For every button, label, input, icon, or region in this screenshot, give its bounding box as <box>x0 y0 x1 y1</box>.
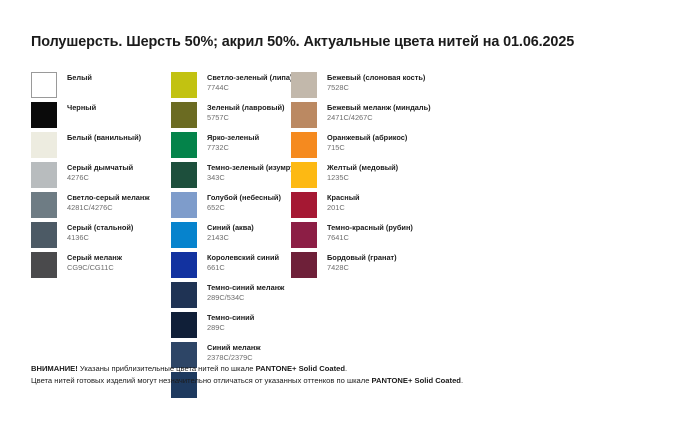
color-chart-page: Полушерсть. Шерсть 50%; акрил 50%. Актуа… <box>0 0 700 426</box>
swatch-pantone-code: 4281C/4276C <box>67 204 150 213</box>
color-swatch[interactable] <box>31 252 57 278</box>
swatch-labels: Ярко-зеленый7732C <box>207 132 259 152</box>
swatch-labels: Серый меланжCG9C/CG11C <box>67 252 122 272</box>
swatch-color-name: Бежевый (слоновая кость) <box>327 74 425 83</box>
swatch-labels: Светло-зеленый (липа)7744C <box>207 72 292 92</box>
color-swatch[interactable] <box>31 102 57 128</box>
color-swatch[interactable] <box>171 192 197 218</box>
swatch-labels: Темно-красный (рубин)7641C <box>327 222 413 242</box>
color-swatch-row[interactable]: Голубой (небесный)652C <box>171 192 291 222</box>
color-swatch[interactable] <box>291 102 317 128</box>
swatch-pantone-code: 1235C <box>327 174 398 183</box>
swatch-color-name: Светло-зеленый (липа) <box>207 74 292 83</box>
swatch-pantone-code: CG9C/CG11C <box>67 264 122 273</box>
swatch-column-greens-blues: Светло-зеленый (липа)7744CЗеленый (лавро… <box>171 72 291 402</box>
color-swatch-row[interactable]: Темно-синий289C <box>171 312 291 342</box>
swatch-color-name: Бежевый меланж (миндаль) <box>327 104 431 113</box>
color-swatch[interactable] <box>291 72 317 98</box>
swatch-labels: Синий меланж2378C/2379C <box>207 342 261 362</box>
color-swatch-row[interactable]: Оранжевый (абрикос)715C <box>291 132 471 162</box>
disclaimer-line-1: ВНИМАНИЕ! Указаны приблизительные цвета … <box>31 363 463 375</box>
swatch-color-name: Красный <box>327 194 360 203</box>
swatch-pantone-code: 343C <box>207 174 301 183</box>
swatch-pantone-code: 2471C/4267C <box>327 114 431 123</box>
swatch-pantone-code: 289C/534C <box>207 294 284 303</box>
disclaimer-footer: ВНИМАНИЕ! Указаны приблизительные цвета … <box>31 363 463 387</box>
color-swatch[interactable] <box>171 72 197 98</box>
attention-label: ВНИМАНИЕ! <box>31 364 78 373</box>
color-swatch-row[interactable]: Темно-синий меланж289C/534C <box>171 282 291 312</box>
swatch-color-name: Серый меланж <box>67 254 122 263</box>
color-swatch[interactable] <box>291 132 317 158</box>
swatch-labels: Черный <box>67 102 96 113</box>
color-swatch-row[interactable]: Королевский синий661C <box>171 252 291 282</box>
swatch-labels: Бежевый меланж (миндаль)2471C/4267C <box>327 102 431 122</box>
swatch-labels: Королевский синий661C <box>207 252 279 272</box>
color-swatch[interactable] <box>31 162 57 188</box>
color-swatch[interactable] <box>291 162 317 188</box>
swatch-pantone-code: 7732C <box>207 144 259 153</box>
swatch-color-name: Темно-синий меланж <box>207 284 284 293</box>
color-swatch-row[interactable]: Светло-зеленый (липа)7744C <box>171 72 291 102</box>
color-swatch[interactable] <box>171 312 197 338</box>
swatch-pantone-code: 2143C <box>207 234 254 243</box>
color-swatch[interactable] <box>31 222 57 248</box>
swatch-color-name: Белый (ванильный) <box>67 134 141 143</box>
swatch-pantone-code: 5757C <box>207 114 285 123</box>
swatch-color-name: Оранжевый (абрикос) <box>327 134 407 143</box>
swatch-labels: Голубой (небесный)652C <box>207 192 281 212</box>
swatch-labels: Синий (аква)2143C <box>207 222 254 242</box>
color-swatch[interactable] <box>31 132 57 158</box>
pantone-brand-2: PANTONE+ Solid Coated <box>372 376 461 385</box>
swatch-labels: Оранжевый (абрикос)715C <box>327 132 407 152</box>
swatch-labels: Белый (ванильный) <box>67 132 141 143</box>
swatch-pantone-code: 7744C <box>207 84 292 93</box>
swatch-labels: Желтый (медовый)1235C <box>327 162 398 182</box>
swatch-color-name: Белый <box>67 74 92 83</box>
swatch-pantone-code: 661C <box>207 264 279 273</box>
swatch-color-name: Королевский синий <box>207 254 279 263</box>
swatch-pantone-code: 4276C <box>67 174 133 183</box>
page-title: Полушерсть. Шерсть 50%; акрил 50%. Актуа… <box>31 34 574 50</box>
color-swatch-row[interactable]: Темно-красный (рубин)7641C <box>291 222 471 252</box>
color-swatch-row[interactable]: Желтый (медовый)1235C <box>291 162 471 192</box>
swatch-labels: Серый дымчатый4276C <box>67 162 133 182</box>
swatch-column-warm-reds: Бежевый (слоновая кость)7528CБежевый мел… <box>291 72 471 282</box>
color-swatch-row[interactable]: Серый меланжCG9C/CG11C <box>31 252 171 282</box>
swatch-pantone-code: 652C <box>207 204 281 213</box>
swatch-color-name: Светло-серый меланж <box>67 194 150 203</box>
swatch-pantone-code: 7641C <box>327 234 413 243</box>
color-swatch[interactable] <box>31 192 57 218</box>
swatch-labels: Серый (стальной)4136C <box>67 222 133 242</box>
swatch-pantone-code: 7528C <box>327 84 425 93</box>
swatch-color-name: Зеленый (лавровый) <box>207 104 285 113</box>
swatch-labels: Белый <box>67 72 92 83</box>
swatch-columns: БелыйЧерныйБелый (ванильный)Серый дымчат… <box>31 72 671 402</box>
swatch-pantone-code: 7428C <box>327 264 397 273</box>
swatch-color-name: Темно-синий <box>207 314 254 323</box>
swatch-pantone-code: 715C <box>327 144 407 153</box>
color-swatch-row[interactable]: Белый (ванильный) <box>31 132 171 162</box>
pantone-brand-1: PANTONE+ Solid Coated <box>256 364 345 373</box>
color-swatch-row[interactable]: Светло-серый меланж4281C/4276C <box>31 192 171 222</box>
color-swatch-row[interactable]: Белый <box>31 72 171 102</box>
color-swatch-row[interactable]: Серый дымчатый4276C <box>31 162 171 192</box>
color-swatch[interactable] <box>291 192 317 218</box>
color-swatch-row[interactable]: Черный <box>31 102 171 132</box>
color-swatch-row[interactable]: Синий (аква)2143C <box>171 222 291 252</box>
swatch-color-name: Черный <box>67 104 96 113</box>
color-swatch[interactable] <box>171 222 197 248</box>
color-swatch-row[interactable]: Серый (стальной)4136C <box>31 222 171 252</box>
color-swatch[interactable] <box>291 222 317 248</box>
swatch-color-name: Темно-красный (рубин) <box>327 224 413 233</box>
color-swatch-row[interactable]: Ярко-зеленый7732C <box>171 132 291 162</box>
color-swatch-row[interactable]: Зеленый (лавровый)5757C <box>171 102 291 132</box>
swatch-labels: Темно-синий289C <box>207 312 254 332</box>
swatch-color-name: Серый дымчатый <box>67 164 133 173</box>
swatch-color-name: Бордовый (гранат) <box>327 254 397 263</box>
swatch-color-name: Желтый (медовый) <box>327 164 398 173</box>
swatch-pantone-code: 201C <box>327 204 360 213</box>
disclaimer-period-1: . <box>345 364 347 373</box>
swatch-pantone-code: 4136C <box>67 234 133 243</box>
swatch-color-name: Синий (аква) <box>207 224 254 233</box>
swatch-labels: Красный201C <box>327 192 360 212</box>
swatch-column-neutrals: БелыйЧерныйБелый (ванильный)Серый дымчат… <box>31 72 171 282</box>
color-swatch[interactable] <box>291 252 317 278</box>
color-swatch-row[interactable]: Бежевый (слоновая кость)7528C <box>291 72 471 102</box>
color-swatch[interactable] <box>171 282 197 308</box>
color-swatch-row[interactable]: Бежевый меланж (миндаль)2471C/4267C <box>291 102 471 132</box>
disclaimer-line-2: Цвета нитей готовых изделий могут незнач… <box>31 375 463 387</box>
swatch-color-name: Голубой (небесный) <box>207 194 281 203</box>
color-swatch[interactable] <box>31 72 57 98</box>
color-swatch[interactable] <box>171 162 197 188</box>
swatch-labels: Темно-синий меланж289C/534C <box>207 282 284 302</box>
swatch-labels: Светло-серый меланж4281C/4276C <box>67 192 150 212</box>
disclaimer-text-2: Цвета нитей готовых изделий могут незнач… <box>31 376 372 385</box>
color-swatch-row[interactable]: Красный201C <box>291 192 471 222</box>
disclaimer-text-1: Указаны приблизительные цвета нитей по ш… <box>78 364 256 373</box>
swatch-labels: Бордовый (гранат)7428C <box>327 252 397 272</box>
swatch-pantone-code: 289C <box>207 324 254 333</box>
color-swatch-row[interactable]: Темно-зеленый (изумруд)343C <box>171 162 291 192</box>
swatch-color-name: Темно-зеленый (изумруд) <box>207 164 301 173</box>
swatch-labels: Зеленый (лавровый)5757C <box>207 102 285 122</box>
swatch-pantone-code: 2378C/2379C <box>207 354 261 363</box>
color-swatch-row[interactable]: Бордовый (гранат)7428C <box>291 252 471 282</box>
color-swatch[interactable] <box>171 132 197 158</box>
swatch-labels: Темно-зеленый (изумруд)343C <box>207 162 301 182</box>
swatch-color-name: Синий меланж <box>207 344 261 353</box>
swatch-color-name: Серый (стальной) <box>67 224 133 233</box>
disclaimer-period-2: . <box>461 376 463 385</box>
swatch-labels: Бежевый (слоновая кость)7528C <box>327 72 425 92</box>
swatch-color-name: Ярко-зеленый <box>207 134 259 143</box>
color-swatch[interactable] <box>171 252 197 278</box>
color-swatch[interactable] <box>171 102 197 128</box>
